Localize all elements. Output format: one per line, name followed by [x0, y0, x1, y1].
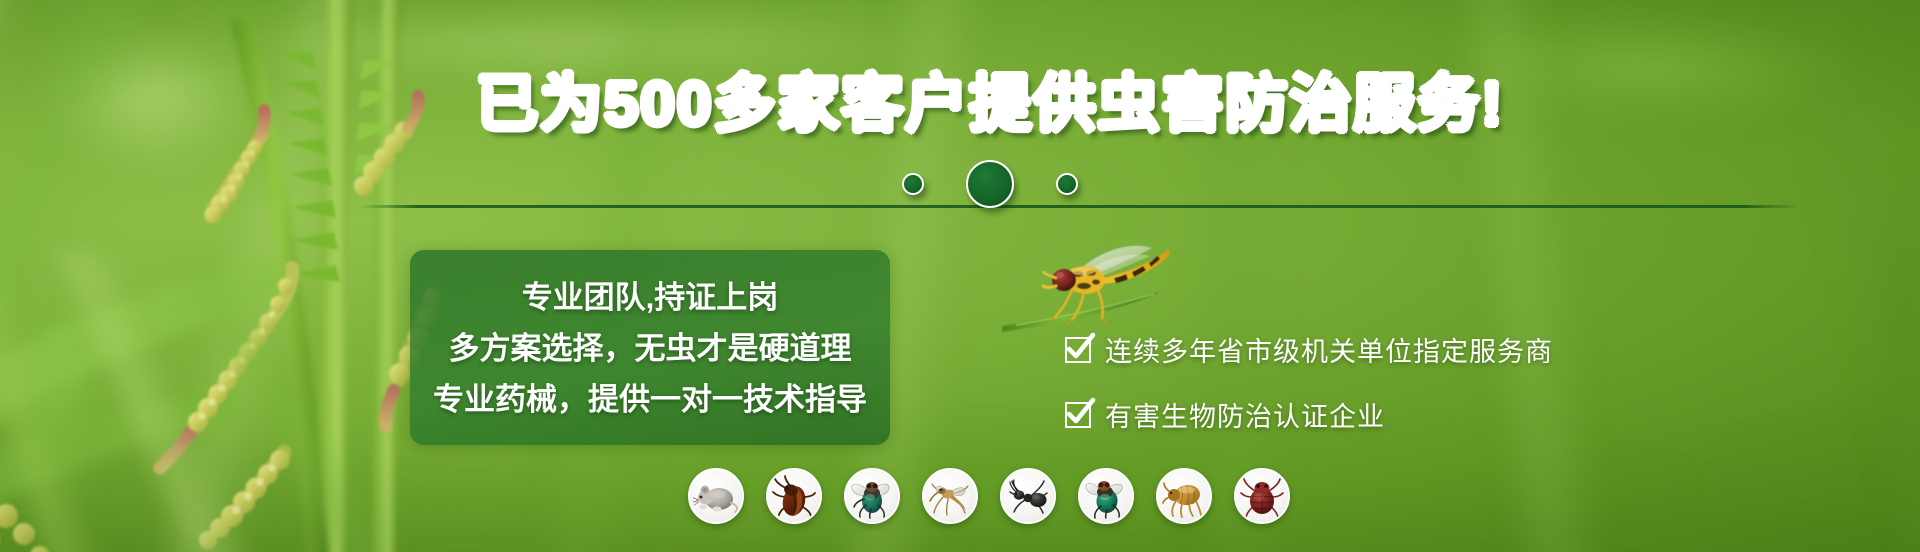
list-item-label: 连续多年省市级机关单位指定服务商	[1105, 330, 1553, 369]
pest-control-hero-banner: 已为500多家客户提供虫害防治服务! 专业团队,持证上岗 多方案选择，无虫才是硬…	[0, 0, 1920, 552]
certification-checklist: 连续多年省市级机关单位指定服务商 有害生物防治认证企业	[1065, 330, 1553, 434]
hoverfly-illustration	[1010, 222, 1190, 332]
housefly-icon[interactable]	[844, 468, 900, 524]
list-item: 连续多年省市级机关单位指定服务商	[1065, 330, 1553, 369]
pest-icon-strip	[688, 468, 1290, 524]
selling-point-line-1: 专业团队,持证上岗	[410, 276, 890, 327]
page-title: 已为500多家客户提供虫害防治服务!	[0, 74, 1920, 136]
blowfly-icon[interactable]	[1078, 468, 1134, 524]
list-item: 有害生物防治认证企业	[1065, 395, 1553, 434]
selling-point-line-2: 多方案选择，无虫才是硬道理	[410, 327, 890, 378]
flea-icon[interactable]	[1156, 468, 1212, 524]
list-item-label: 有害生物防治认证企业	[1105, 395, 1385, 434]
ant-icon[interactable]	[1000, 468, 1056, 524]
mosquito-icon[interactable]	[922, 468, 978, 524]
decorative-dot-group	[0, 160, 1920, 208]
dot-small-right	[1056, 173, 1078, 195]
dot-small-left	[902, 173, 924, 195]
check-box-icon	[1065, 402, 1091, 428]
bedbug-icon[interactable]	[1234, 468, 1290, 524]
check-box-icon	[1065, 337, 1091, 363]
selling-point-line-3: 专业药械，提供一对一技术指导	[410, 378, 890, 417]
page-title-text: 已为500多家客户提供虫害防治服务!	[476, 70, 1504, 139]
selling-points-panel: 专业团队,持证上岗 多方案选择，无虫才是硬道理 专业药械，提供一对一技术指导	[410, 250, 890, 445]
dot-large-center	[966, 160, 1014, 208]
rodent-icon[interactable]	[688, 468, 744, 524]
cockroach-icon[interactable]	[766, 468, 822, 524]
